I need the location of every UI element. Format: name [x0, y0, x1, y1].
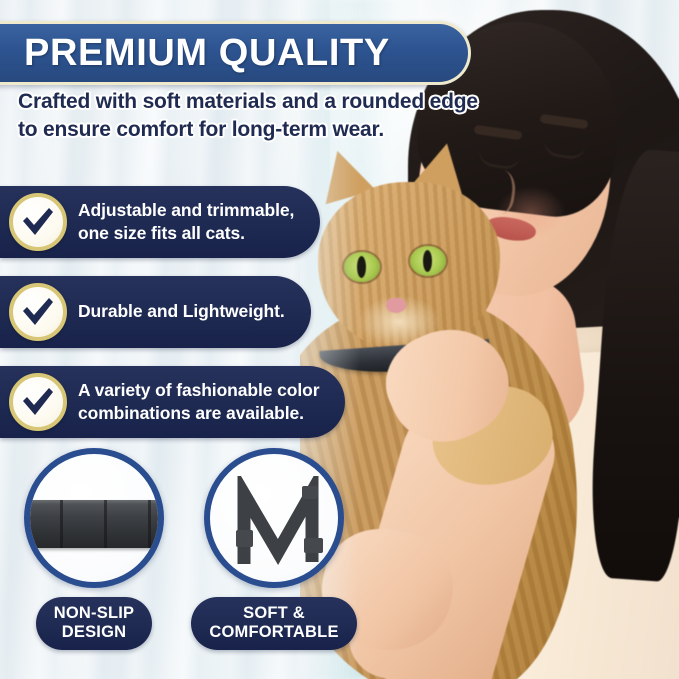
strap-seam	[148, 500, 151, 548]
bottom-feature-non-slip: NON-SLIP DESIGN	[14, 448, 174, 650]
subtitle: Crafted with soft materials and a rounde…	[18, 88, 488, 144]
collar-m-shape-icon	[204, 448, 344, 588]
product-feature-infographic: PREMIUM QUALITY Crafted with soft materi…	[0, 0, 679, 679]
list-item: Durable and Lightweight.	[0, 276, 345, 348]
strap-seam	[60, 500, 63, 548]
bottom-feature-label: SOFT & COMFORTABLE	[191, 597, 356, 650]
feature-text: Durable and Lightweight.	[78, 300, 285, 323]
title-banner: PREMIUM QUALITY	[0, 21, 471, 85]
feature-text: A variety of fashionable color combinati…	[78, 379, 319, 425]
check-icon	[9, 373, 67, 431]
feature-text: Adjustable and trimmable, one size fits …	[78, 199, 294, 245]
bottom-feature-list: NON-SLIP DESIGN SOFT & COMFORTABLE	[14, 448, 354, 650]
list-item: A variety of fashionable color combinati…	[0, 366, 345, 438]
bottom-feature-label: NON-SLIP DESIGN	[36, 597, 152, 650]
collar-strap-icon	[24, 448, 164, 588]
check-icon	[9, 283, 67, 341]
strap-seam	[104, 500, 107, 548]
bottom-feature-soft-comfortable: SOFT & COMFORTABLE	[194, 448, 354, 650]
list-item: Adjustable and trimmable, one size fits …	[0, 186, 345, 258]
check-icon	[9, 193, 67, 251]
strap-graphic	[24, 500, 164, 548]
page-title: PREMIUM QUALITY	[24, 32, 390, 75]
feature-list: Adjustable and trimmable, one size fits …	[0, 186, 345, 456]
